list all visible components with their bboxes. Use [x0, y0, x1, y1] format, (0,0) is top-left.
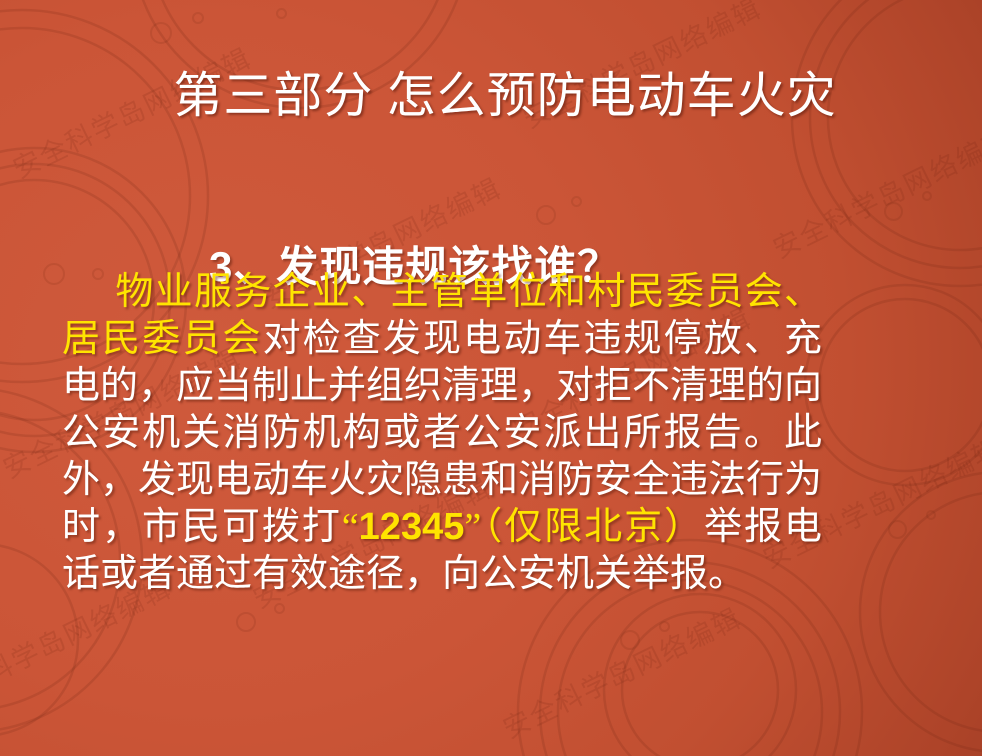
- slide-content: 第三部分 怎么预防电动车火灾 3、发现违规该找谁？ 物业服务企业、主管单位和村民…: [0, 0, 982, 756]
- body-quote-close: ”: [464, 506, 481, 548]
- body-highlight-scope-note: （仅限北京）: [481, 506, 704, 548]
- body-quote-open: “: [342, 506, 359, 548]
- body-paragraph: 物业服务企业、主管单位和村民委员会、居民委员会对检查发现电动车违规停放、充电的，…: [62, 269, 822, 598]
- body-highlight-hotline-number: 12345: [359, 506, 465, 548]
- slide-title: 第三部分 怎么预防电动车火灾: [0, 69, 982, 124]
- presentation-slide: 安全科学岛网络编辑 安全科学岛网络编辑 安全科学岛网络编辑 安全科学岛网络编辑 …: [0, 0, 982, 756]
